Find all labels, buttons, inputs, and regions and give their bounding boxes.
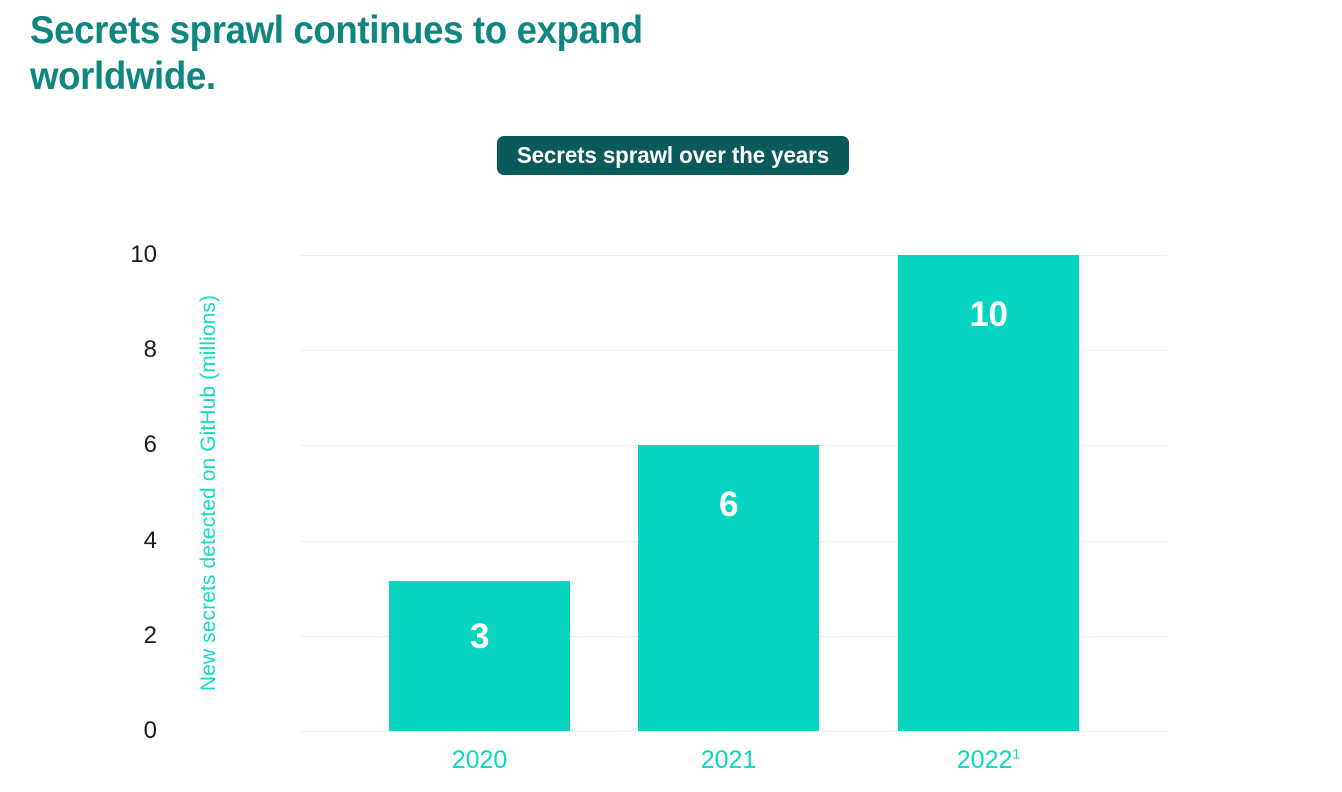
x-axis-tick-label: 2020 xyxy=(389,748,570,773)
gridline xyxy=(300,731,1167,732)
bar[interactable]: 6 xyxy=(638,445,819,731)
bar-chart: New secrets detected on GitHub (millions… xyxy=(0,0,1342,792)
y-axis-tick-label: 0 xyxy=(97,719,157,743)
y-axis-tick-label: 2 xyxy=(97,624,157,648)
plot-area: 3610 xyxy=(300,255,1167,731)
y-axis-tick-label: 6 xyxy=(97,433,157,457)
bar[interactable]: 3 xyxy=(389,581,570,731)
bar[interactable]: 10 xyxy=(898,255,1079,731)
bar-value-label: 3 xyxy=(389,619,570,654)
y-axis-title: New secrets detected on GitHub (millions… xyxy=(194,255,224,731)
y-axis-title-text: New secrets detected on GitHub (millions… xyxy=(197,295,221,691)
bar-value-label: 10 xyxy=(898,297,1079,332)
bar-value-label: 6 xyxy=(638,487,819,522)
footnote-marker: 1 xyxy=(1012,746,1020,762)
y-axis-tick-label: 4 xyxy=(97,529,157,553)
x-axis-tick-label: 2021 xyxy=(638,748,819,773)
x-axis-tick-label: 20221 xyxy=(898,748,1079,773)
y-axis-tick-label: 8 xyxy=(97,338,157,362)
y-axis-tick-label: 10 xyxy=(97,243,157,267)
